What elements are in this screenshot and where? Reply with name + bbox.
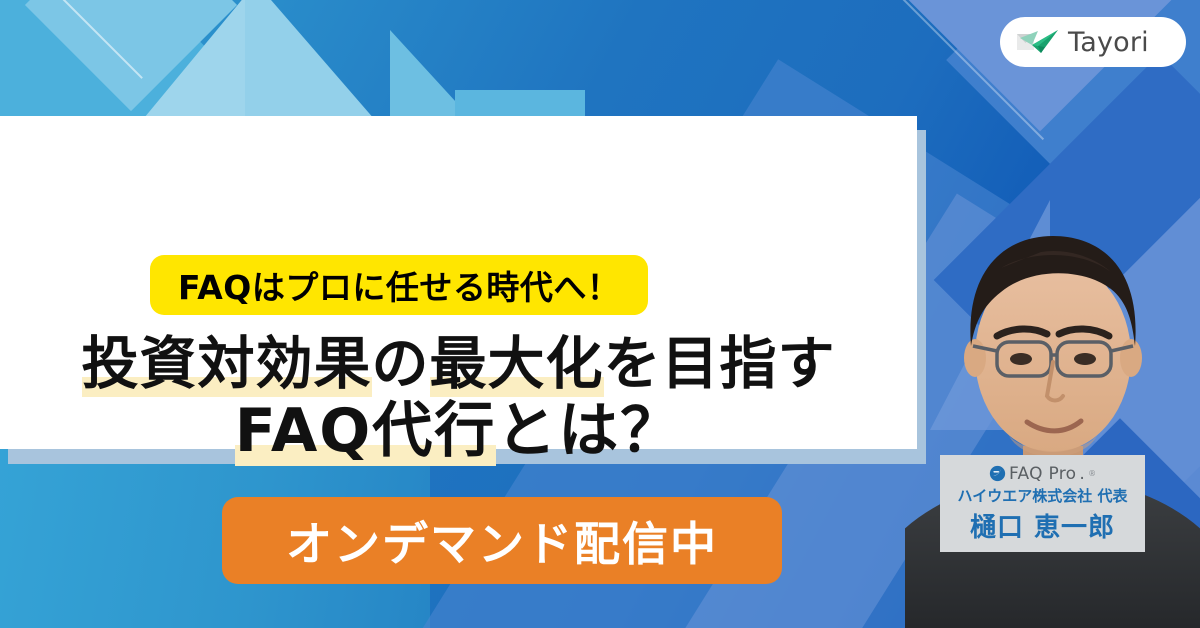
tayori-logo[interactable]: Tayori [1000, 17, 1186, 67]
headline-line-1-highlight-c: 最大化 [430, 331, 604, 397]
speaker-photo [905, 150, 1200, 628]
faq-pro-logo-icon [989, 465, 1006, 482]
cta-button-label: オンデマンド配信中 [286, 508, 718, 574]
decor-triangle-tl-3 [130, 0, 250, 135]
cta-button[interactable]: オンデマンド配信中 [222, 497, 782, 584]
headline: 投資対効果の最大化を目指す FAQ代行とは？ [0, 331, 917, 467]
headline-line-1: 投資対効果の最大化を目指す [0, 331, 917, 397]
headline-line-2-plain-b: とは？ [496, 396, 682, 466]
headline-line-2-highlight-a: FAQ代行 [235, 396, 497, 466]
speaker-company: ハイウエア株式会社 代表 [958, 485, 1128, 506]
eyebrow-badge-label: FAQはプロに任せる時代へ！ [178, 261, 620, 309]
headline-line-1-plain-b: の [372, 331, 430, 397]
headline-line-2: FAQ代行とは？ [0, 397, 917, 467]
faq-pro-logo: FAQ Pro . ® [989, 464, 1096, 484]
content-card: FAQはプロに任せる時代へ！ 投資対効果の最大化を目指す FAQ代行とは？ [0, 116, 917, 449]
faq-pro-logo-suffix: . [1079, 464, 1085, 484]
eyebrow-badge: FAQはプロに任せる時代へ！ [150, 255, 648, 315]
decor-triangle-tl-4 [245, 0, 375, 120]
tayori-logo-text: Tayori [1068, 27, 1149, 58]
faq-pro-registered-mark: ® [1088, 469, 1096, 478]
headline-line-1-highlight-a: 投資対効果 [82, 331, 372, 397]
speaker-name: 樋口 恵一郎 [970, 507, 1115, 544]
tayori-paper-plane-icon [1014, 25, 1060, 59]
headline-line-1-plain-d: を目指す [604, 331, 836, 397]
speaker-nameplate: FAQ Pro . ® ハイウエア株式会社 代表 樋口 恵一郎 [940, 455, 1145, 552]
banner-stage: FAQ Pro . ® ハイウエア株式会社 代表 樋口 恵一郎 Tayori F… [0, 0, 1200, 628]
faq-pro-logo-text: FAQ Pro [1009, 464, 1076, 484]
speaker-portrait-illustration [905, 150, 1200, 628]
